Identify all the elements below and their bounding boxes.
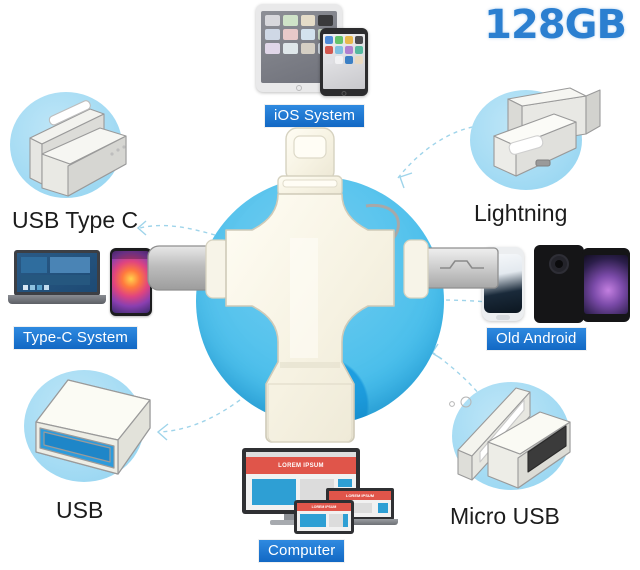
product-infographic: 128GB	[0, 0, 640, 570]
four-in-one-flash-drive	[140, 118, 500, 458]
android-devices-photo	[482, 245, 632, 323]
laptop-lorem-text: LOREM IPSUM	[346, 493, 374, 498]
computer-devices-photo: LOREM IPSUM LOREM IPSUM	[236, 448, 406, 534]
usb-type-c-connector-photo	[8, 92, 138, 202]
tablet-lorem-text: LOREM IPSUM	[312, 505, 337, 509]
label-micro-usb: Micro USB	[450, 503, 560, 530]
label-old-android: Old Android	[487, 328, 586, 350]
monitor-lorem-text: LOREM IPSUM	[278, 463, 324, 469]
label-usb: USB	[56, 497, 103, 524]
ios-devices-photo	[248, 4, 398, 96]
label-computer: Computer	[259, 540, 344, 562]
label-usb-type-c: USB Type C	[12, 207, 138, 234]
typec-devices-photo	[6, 248, 158, 318]
label-type-c-system: Type-C System	[14, 327, 137, 349]
capacity-badge: 128GB	[484, 2, 626, 48]
